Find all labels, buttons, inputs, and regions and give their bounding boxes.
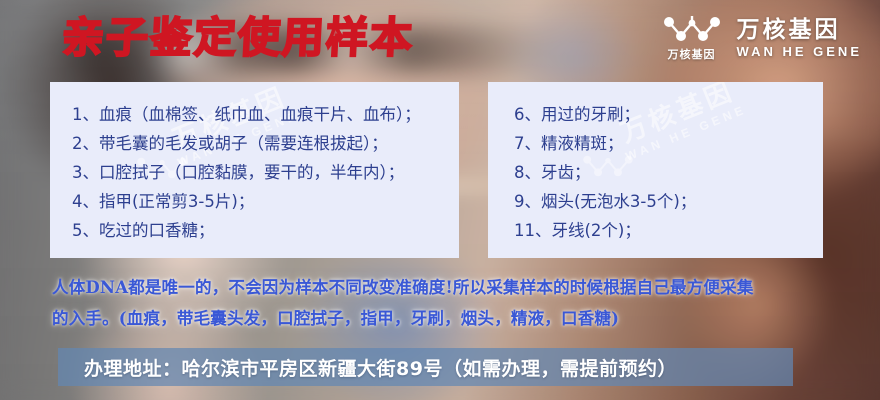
explanatory-note: 人体DNA都是唯一的，不会因为样本不同改变准确度!所以采集样本的时候根据自己最方… bbox=[52, 272, 842, 334]
sample-list-panel-right: 万核基因 WAN HE GENE 6、用过的牙刷； 7、精液精斑； bbox=[488, 82, 823, 258]
address-text: 办理地址：哈尔滨市平房区新疆大街89号（如需办理，需提前预约） bbox=[58, 354, 677, 381]
brand-mark: 万核基因 bbox=[661, 14, 723, 62]
list-item: 4、指甲(正常剪3-5片)； bbox=[72, 187, 459, 216]
list-item: 8、牙齿； bbox=[514, 158, 823, 187]
list-item: 5、吃过的口香糖； bbox=[72, 216, 459, 245]
list-item: 11、牙线(2个)； bbox=[514, 216, 823, 245]
list-item: 3、口腔拭子（口腔黏膜，要干的，半年内）； bbox=[72, 158, 459, 187]
poster-canvas: 亲子鉴定使用样本 bbox=[0, 0, 880, 400]
list-item: 2、带毛囊的毛发或胡子（需要连根拔起）； bbox=[72, 129, 459, 158]
brand-name-en: WAN HE GENE bbox=[737, 45, 862, 59]
list-item: 6、用过的牙刷； bbox=[514, 100, 823, 129]
address-bar: 办理地址：哈尔滨市平房区新疆大街89号（如需办理，需提前预约） bbox=[58, 348, 793, 386]
brand-lockup: 万核基因 万核基因 WAN HE GENE bbox=[661, 14, 862, 62]
list-item: 7、精液精斑； bbox=[514, 129, 823, 158]
brand-wordmark: 万核基因 WAN HE GENE bbox=[737, 17, 862, 60]
explanatory-note-line-2: 的入手。(血痕，带毛囊头发，口腔拭子，指甲，牙刷，烟头，精液，口香糖) bbox=[52, 303, 842, 334]
list-item: 1、血痕（血棉签、纸巾血、血痕干片、血布）； bbox=[72, 100, 459, 129]
dna-molecule-icon bbox=[661, 14, 723, 44]
brand-name-cn: 万核基因 bbox=[737, 17, 841, 42]
sample-list-right: 6、用过的牙刷； 7、精液精斑； 8、牙齿； 9、烟头(无泡水3-5个)； 11… bbox=[488, 82, 823, 245]
explanatory-note-line-1: 人体DNA都是唯一的，不会因为样本不同改变准确度!所以采集样本的时候根据自己最方… bbox=[52, 272, 842, 303]
brand-mark-label: 万核基因 bbox=[668, 46, 716, 62]
sample-list-panel-left: 万核基因 WAN HE GENE 1、血痕（血棉签、纸巾血、血痕干片、血布）； bbox=[50, 82, 459, 258]
sample-list-left: 1、血痕（血棉签、纸巾血、血痕干片、血布）； 2、带毛囊的毛发或胡子（需要连根拔… bbox=[50, 82, 459, 245]
list-item: 9、烟头(无泡水3-5个)； bbox=[514, 187, 823, 216]
page-title: 亲子鉴定使用样本 bbox=[61, 16, 415, 60]
